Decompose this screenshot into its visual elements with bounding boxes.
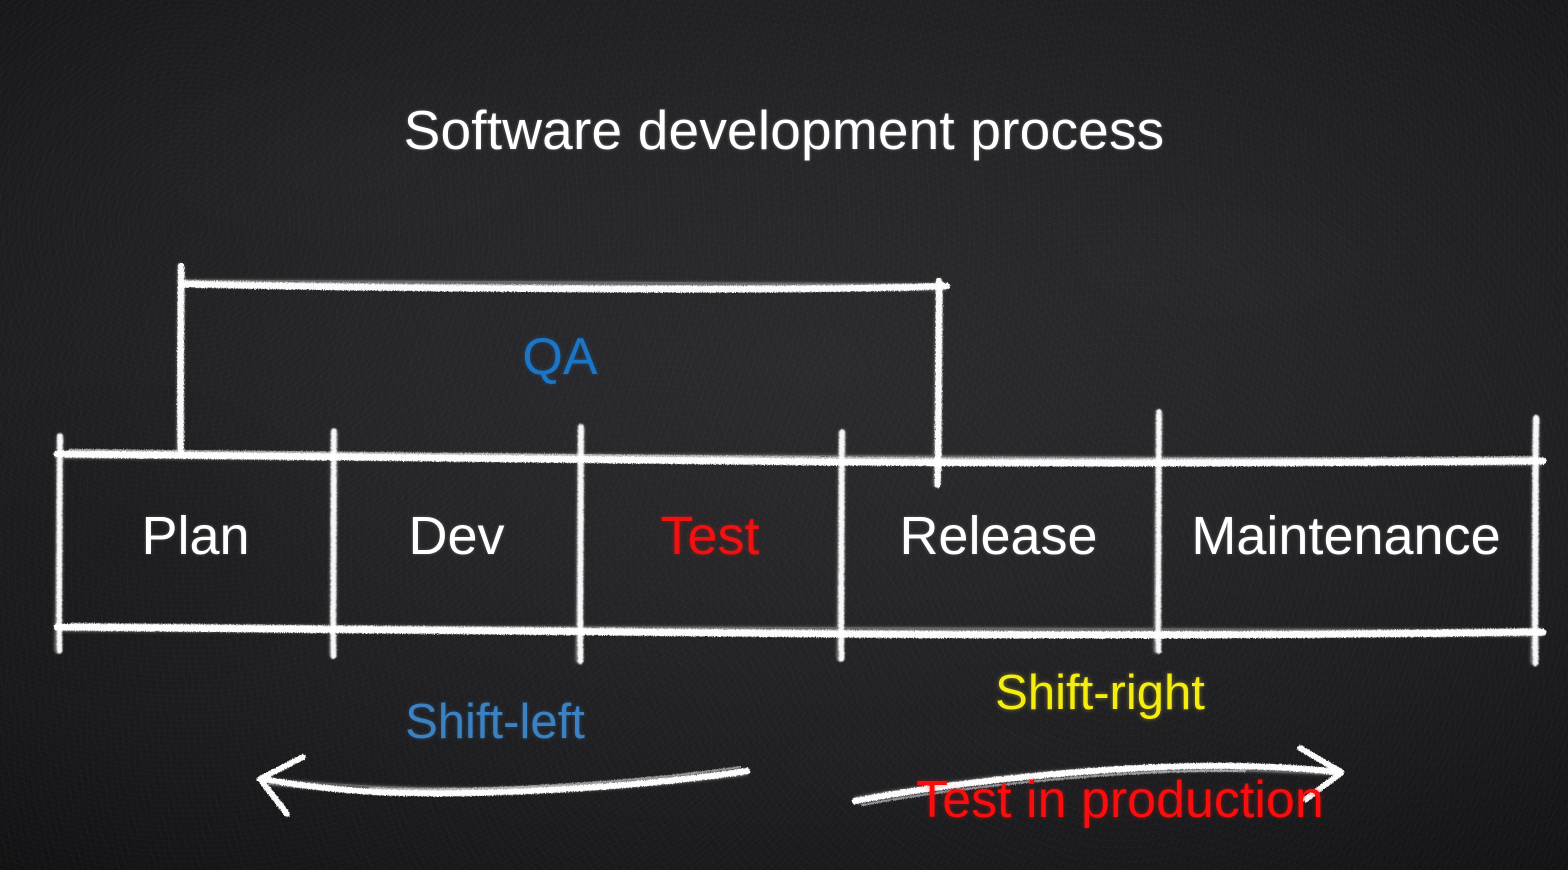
stage-label-plan: Plan (58, 505, 333, 567)
test-in-production-label: Test in production (700, 770, 1540, 830)
page-title: Software development process (0, 98, 1568, 162)
stage-label-dev: Dev (333, 505, 580, 567)
stage-label-test: Test (580, 505, 840, 567)
qa-bracket-label: QA (0, 327, 1120, 387)
stage-label-release: Release (840, 505, 1157, 567)
text-layer: Software development process QA Plan Dev… (0, 0, 1568, 870)
stage-label-maintenance: Maintenance (1157, 505, 1535, 567)
chalkboard-slide: Software development process QA Plan Dev… (0, 0, 1568, 870)
shift-right-label: Shift-right (820, 665, 1380, 721)
